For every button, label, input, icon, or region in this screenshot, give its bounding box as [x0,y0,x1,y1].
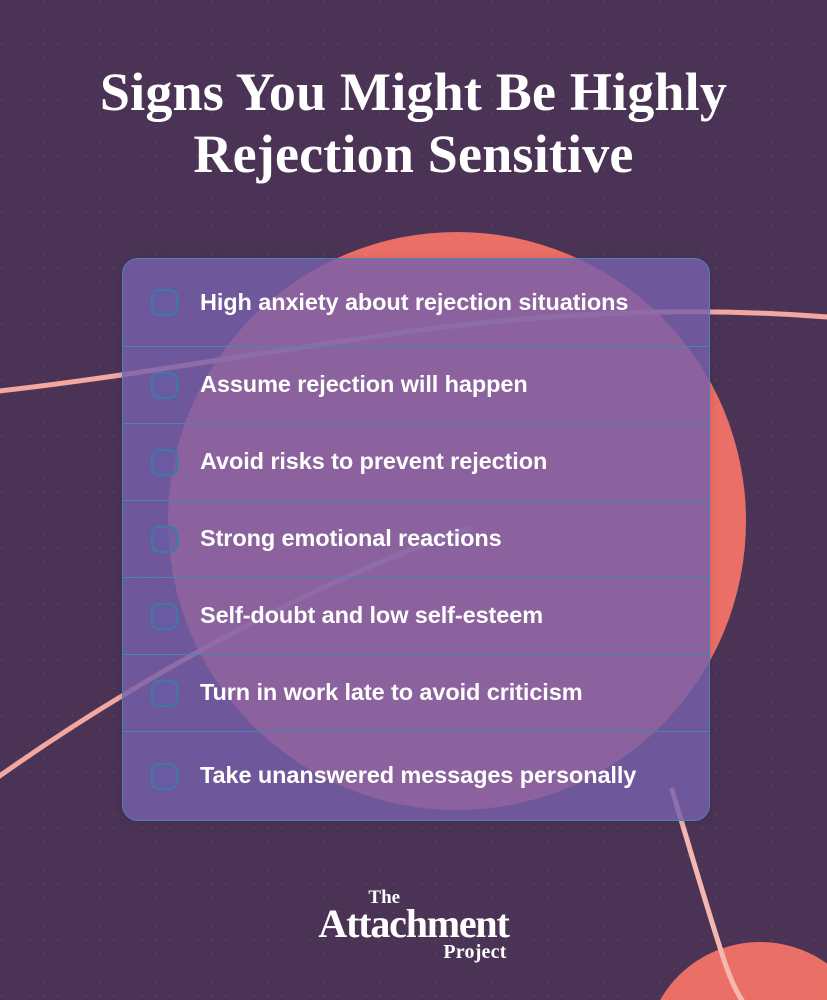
brand-logo-line2: Attachment [318,904,508,944]
unchecked-checkbox-icon[interactable] [151,526,178,553]
unchecked-checkbox-icon[interactable] [151,680,178,707]
unchecked-checkbox-icon[interactable] [151,372,178,399]
list-item[interactable]: Avoid risks to prevent rejection [123,424,709,501]
unchecked-checkbox-icon[interactable] [151,763,178,790]
list-item-label: Strong emotional reactions [200,524,502,553]
list-item[interactable]: High anxiety about rejection situations [123,259,709,347]
list-item-label: Turn in work late to avoid criticism [200,678,583,707]
list-item-label: Take unanswered messages personally [200,761,636,790]
unchecked-checkbox-icon[interactable] [151,449,178,476]
list-item[interactable]: Strong emotional reactions [123,501,709,578]
checklist-card: High anxiety about rejection situations … [122,258,710,821]
unchecked-checkbox-icon[interactable] [151,603,178,630]
brand-logo: The Attachment Project [0,888,827,963]
list-item[interactable]: Take unanswered messages personally [123,732,709,820]
list-item[interactable]: Turn in work late to avoid criticism [123,655,709,732]
list-item-label: Self-doubt and low self-esteem [200,601,543,630]
list-item-label: High anxiety about rejection situations [200,288,628,317]
list-item-label: Avoid risks to prevent rejection [200,447,547,476]
unchecked-checkbox-icon[interactable] [151,289,178,316]
page-title: Signs You Might Be Highly Rejection Sens… [0,62,827,185]
infographic-canvas: Signs You Might Be Highly Rejection Sens… [0,0,827,1000]
list-item-label: Assume rejection will happen [200,370,528,399]
brand-logo-inner: The Attachment Project [318,888,508,962]
list-item[interactable]: Self-doubt and low self-esteem [123,578,709,655]
list-item[interactable]: Assume rejection will happen [123,347,709,424]
